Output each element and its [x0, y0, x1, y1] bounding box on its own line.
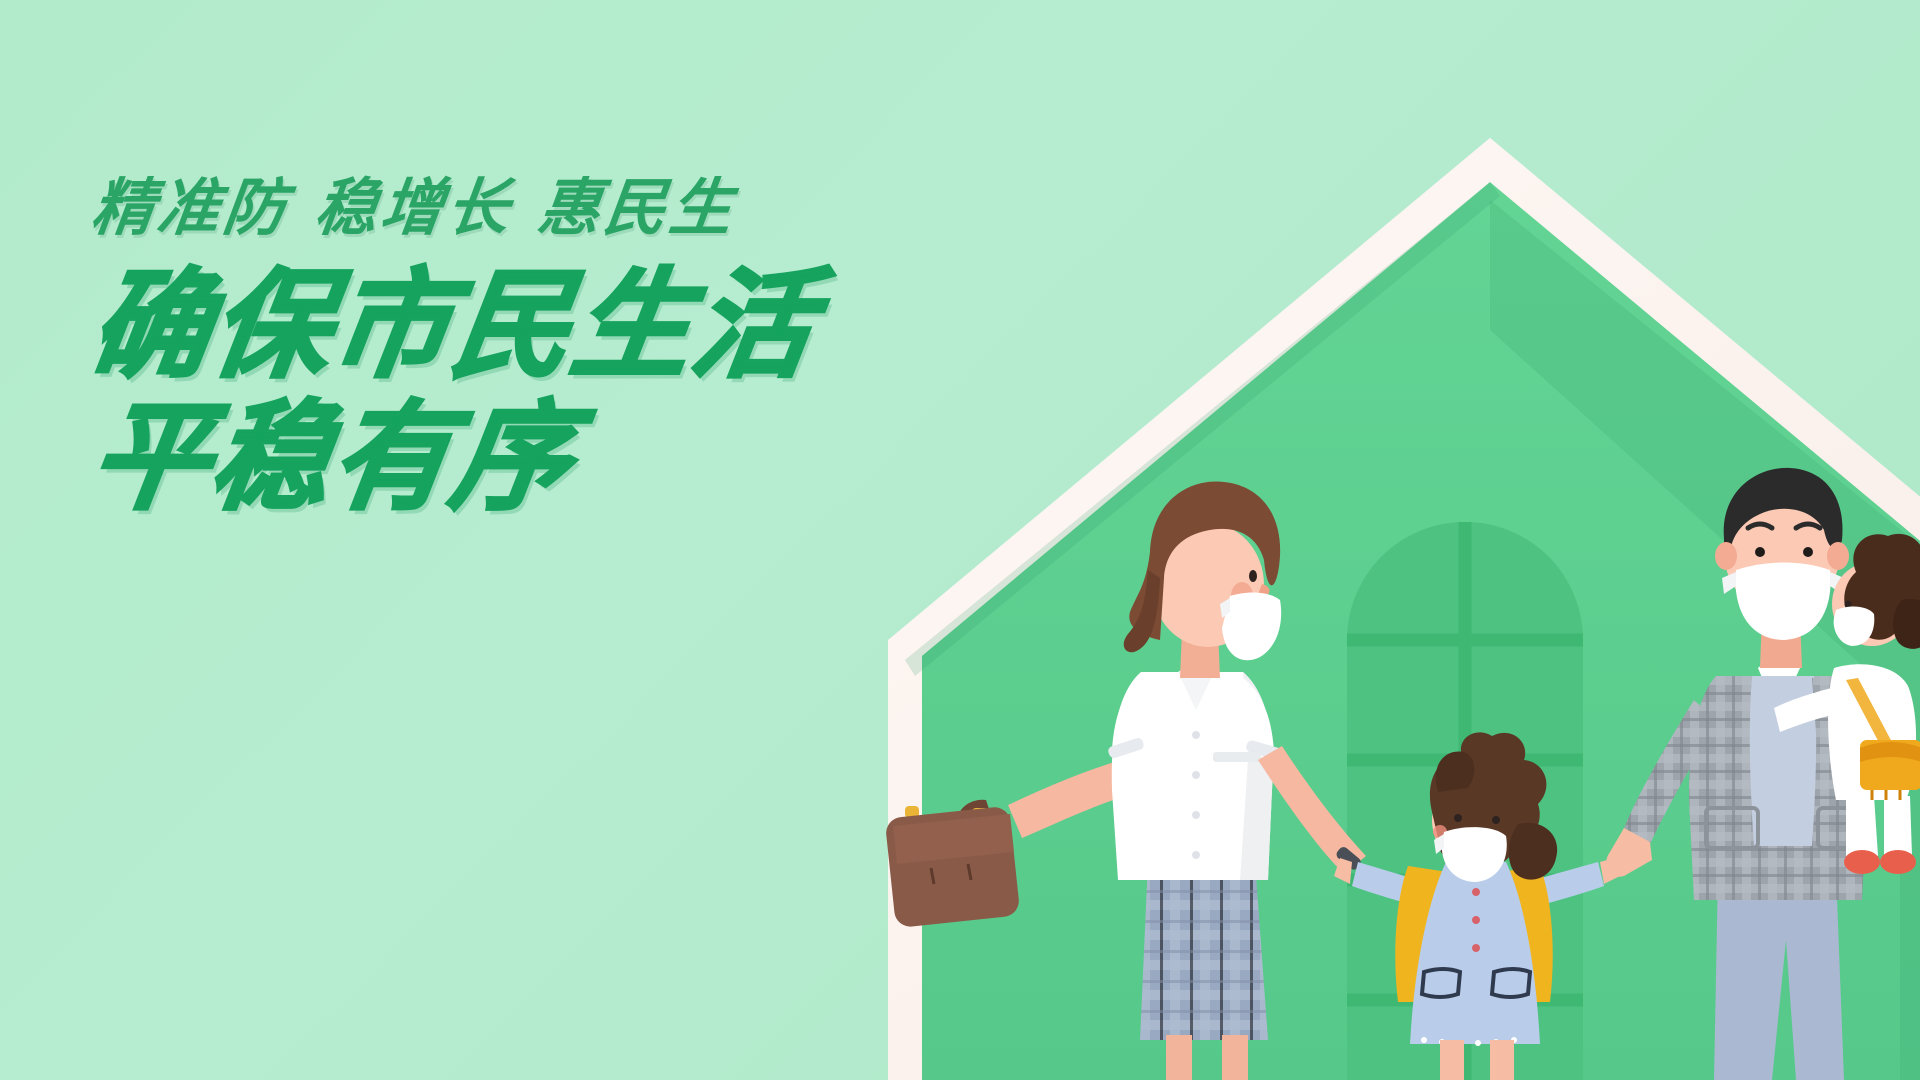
house-svg	[0, 0, 1920, 1080]
kicker-line: 精准防稳增长惠民生	[88, 178, 1116, 240]
headline-line-1: 确保市民生活	[84, 266, 1121, 386]
headline-block: 精准防稳增长惠民生 确保市民生活 平稳有序	[92, 178, 1112, 519]
kicker-part-1: 精准防	[88, 174, 294, 243]
poster-canvas: 精准防稳增长惠民生 确保市民生活 平稳有序	[0, 0, 1920, 1080]
arched-grid-window	[1347, 522, 1583, 1080]
house-illustration	[0, 0, 1920, 1080]
headline-line-2: 平稳有序	[84, 398, 1121, 518]
kicker-part-2: 稳增长	[311, 174, 517, 243]
kicker-part-3: 惠民生	[534, 174, 740, 243]
headline: 确保市民生活 平稳有序	[92, 266, 1112, 519]
